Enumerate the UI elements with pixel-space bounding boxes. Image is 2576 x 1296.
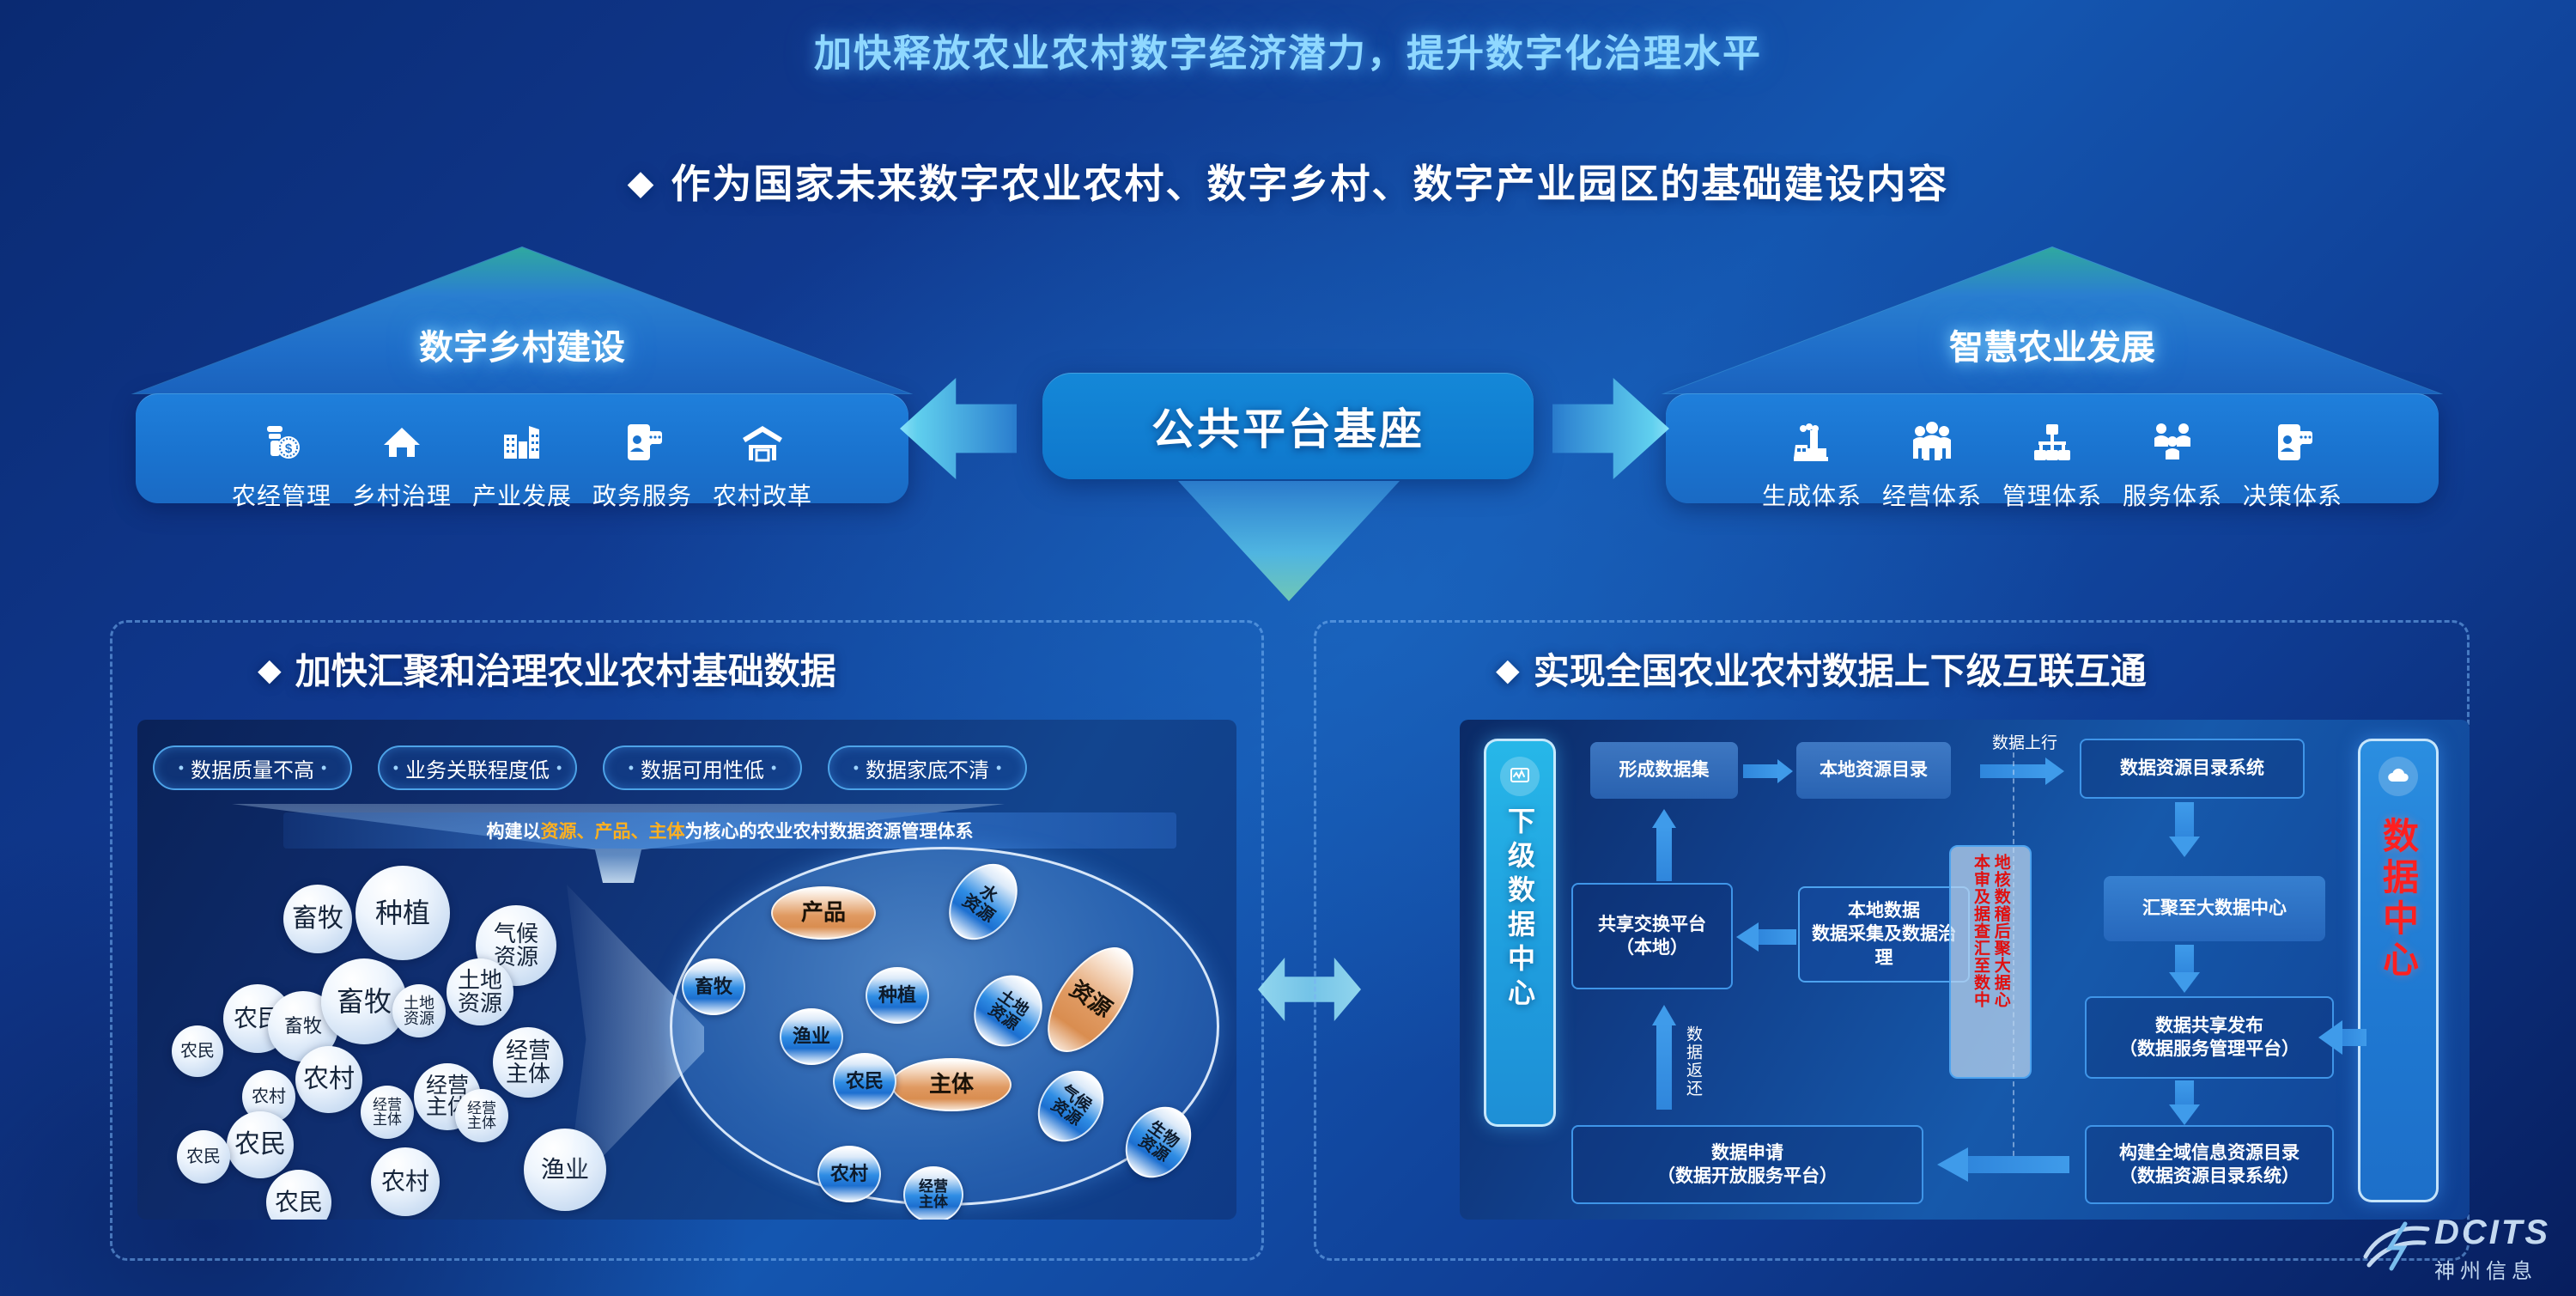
right-item-label-0: 生成体系 <box>1752 478 1872 512</box>
arrow-head-icon <box>2169 837 2200 857</box>
money-coin-icon: $ <box>222 416 342 469</box>
bottom-right-canvas: 下级数据中心 数据中心 形成数据集 本地资源目录 数据上行 数据资源目录系统 <box>1460 720 2470 1220</box>
diamond-bullet-icon: ◆ <box>258 652 282 687</box>
catalog-system-box[interactable]: 数据资源目录系统 <box>2080 739 2305 799</box>
arrow-head-icon <box>1652 809 1676 828</box>
left-house-panel: 数字乡村建设 $ 农经管理 乡村治理 <box>136 247 908 503</box>
public-platform-base-pill[interactable]: 公共平台基座 <box>1042 373 1534 479</box>
data-center-tab[interactable]: 数据中心 <box>2358 739 2439 1202</box>
data-bubble: 经营主体 <box>455 1089 508 1142</box>
issue-pill-label-3: 数据家底不清 <box>866 753 989 783</box>
arrow-dc-to-publish <box>2341 1029 2366 1046</box>
arrow-to-left-panel <box>900 378 1017 479</box>
left-item-0[interactable]: $ 农经管理 <box>222 416 342 512</box>
oval-node: 农民 <box>833 1053 896 1110</box>
oval-node: 经营主体 <box>903 1166 963 1220</box>
right-house-roof: 智慧农业发展 <box>1666 247 2439 393</box>
bottom-left-heading: ◆加快汇聚和治理农业农村基础数据 <box>258 642 836 695</box>
aggregate-center-box[interactable]: 汇聚至大数据中心 <box>2104 876 2325 941</box>
sub-title-text: 作为国家未来数字农业农村、数字乡村、数字产业园区的基础建设内容 <box>671 161 1948 206</box>
bottom-right-heading-text: 实现全国农业农村数据上下级互联互通 <box>1534 651 2147 691</box>
issue-pill-label-1: 业务关联程度低 <box>405 753 550 783</box>
buildings-icon <box>462 416 582 469</box>
issue-pill-label-2: 数据可用性低 <box>641 753 764 783</box>
data-bubble: 农民 <box>266 1170 331 1220</box>
left-house-roof: 数字乡村建设 <box>136 247 908 393</box>
bottom-left-canvas: •数据质量不高• •业务关联程度低• •数据可用性低• •数据家底不清• 构建以… <box>137 720 1236 1220</box>
oval-node: 资源 <box>1030 933 1150 1067</box>
right-item-label-3: 服务体系 <box>2112 478 2233 512</box>
oval-node: 主体 <box>891 1058 1012 1111</box>
data-bubble: 农村 <box>371 1147 440 1216</box>
right-house-title: 智慧农业发展 <box>1666 319 2439 369</box>
banner-highlight: 资源、产品、主体 <box>541 818 685 843</box>
mobile-service-icon <box>582 416 702 469</box>
left-item-label-4: 农村改革 <box>702 478 823 512</box>
issue-pill-label-0: 数据质量不高 <box>191 753 314 783</box>
main-title: 加快释放农业农村数字经济潜力，提升数字化治理水平 <box>0 22 2576 77</box>
arrow-catalog-to-aggregate <box>2175 802 2194 840</box>
form-dataset-box[interactable]: 形成数据集 <box>1590 742 1738 799</box>
arrow-head-icon <box>2169 972 2200 993</box>
left-item-label-1: 乡村治理 <box>342 478 462 512</box>
right-item-label-2: 管理体系 <box>1992 478 2112 512</box>
mobile-service-icon <box>2233 416 2353 469</box>
people-service-icon <box>2112 416 2233 469</box>
data-return-label: 数据返还 <box>1681 1025 1704 1098</box>
local-data-label-2: 数据采集及数据治理 <box>1807 922 1961 970</box>
data-bubble: 土地资源 <box>392 984 446 1037</box>
diamond-bullet-icon: ◆ <box>628 164 656 202</box>
arrow-down-to-bottom <box>1178 481 1400 601</box>
left-item-label-0: 农经管理 <box>222 478 342 512</box>
data-bubble: 农村 <box>295 1046 362 1113</box>
left-item-3[interactable]: 政务服务 <box>582 416 702 512</box>
right-item-3[interactable]: 服务体系 <box>2112 416 2233 512</box>
arrow-head-icon <box>1652 1005 1676 1025</box>
catalog-system-label: 数据资源目录系统 <box>2120 757 2264 780</box>
right-item-label-4: 决策体系 <box>2233 478 2353 512</box>
audit-note-col-2: 本审及据查汇至数中 <box>1970 854 1990 1077</box>
bullet-dot-icon: • <box>854 759 859 777</box>
house-reform-icon <box>702 416 823 469</box>
data-bubble: 种植 <box>355 866 450 960</box>
banner-prefix: 构建以 <box>487 818 541 843</box>
share-publish-label-1: 数据共享发布 <box>2155 1014 2263 1037</box>
oval-node: 气候资源 <box>1024 1058 1117 1154</box>
oval-node: 种植 <box>866 967 929 1024</box>
diamond-bullet-icon: ◆ <box>1496 652 1520 687</box>
local-catalog-label: 本地资源目录 <box>1820 758 1928 782</box>
arrow-share-to-dataset <box>1656 826 1672 881</box>
left-item-4[interactable]: 农村改革 <box>702 416 823 512</box>
issue-pill-1[interactable]: •业务关联程度低• <box>378 745 577 790</box>
oval-node: 畜牧 <box>682 958 745 1015</box>
data-upload-label: 数据上行 <box>1992 730 2057 753</box>
svg-text:$: $ <box>285 441 293 456</box>
left-item-2[interactable]: 产业发展 <box>462 416 582 512</box>
cloud-icon <box>2379 757 2418 796</box>
local-data-label-1: 本地数据 <box>1848 899 1920 922</box>
monitor-chart-icon <box>1500 757 1540 796</box>
issue-pill-0[interactable]: •数据质量不高• <box>153 745 352 790</box>
local-data-box[interactable]: 本地数据 数据采集及数据治理 <box>1798 886 1970 983</box>
lower-level-data-center-tab[interactable]: 下级数据中心 <box>1484 739 1556 1127</box>
arrow-dataset-to-catalog <box>1743 764 1779 778</box>
bullet-dot-icon: • <box>556 759 562 777</box>
arrow-localdata-to-share <box>1759 929 1796 945</box>
arrow-head-icon <box>1777 759 1793 783</box>
logo-mark-icon <box>2360 1219 2434 1278</box>
data-apply-box[interactable]: 数据申请 （数据开放服务平台） <box>1571 1125 1923 1204</box>
issue-pill-3[interactable]: •数据家底不清• <box>828 745 1027 790</box>
bullet-dot-icon: • <box>629 759 634 777</box>
oval-node: 水资源 <box>935 851 1031 953</box>
right-house-body: 生成体系 经营体系 <box>1666 393 2439 503</box>
share-platform-label-1: 共享交换平台 <box>1598 913 1706 936</box>
infographic-stage: 加快释放农业农村数字经济潜力，提升数字化治理水平 ◆作为国家未来数字农业农村、数… <box>0 0 2576 1296</box>
messy-data-bubble-cluster: 农民农民畜牧畜牧种植畜牧土地资源气候资源土地资源经营主体农村农村农民农民农民经营… <box>156 864 611 1208</box>
logo-en-text: DCITS <box>2434 1214 2550 1252</box>
core-system-banner: 构建以资源、产品、主体为核心的农业农村数据资源管理体系 <box>283 812 1176 849</box>
data-bubble: 农民 <box>227 1111 294 1178</box>
share-platform-box[interactable]: 共享交换平台 （本地） <box>1571 883 1733 989</box>
bullet-dot-icon: • <box>771 759 776 777</box>
data-bubble: 经营主体 <box>361 1086 414 1139</box>
issue-pill-2[interactable]: •数据可用性低• <box>603 745 802 790</box>
right-item-4[interactable]: 决策体系 <box>2233 416 2353 512</box>
oval-node: 渔业 <box>780 1008 843 1065</box>
left-house-title: 数字乡村建设 <box>136 319 908 369</box>
logo-cn-text: 神州信息 <box>2434 1254 2550 1284</box>
data-bubble: 农民 <box>172 1025 223 1077</box>
lower-level-data-center-label: 下级数据中心 <box>1500 806 1540 1013</box>
share-platform-label-2: （本地） <box>1616 936 1688 959</box>
local-catalog-box[interactable]: 本地资源目录 <box>1796 742 1951 799</box>
arrow-head-icon <box>1937 1147 1968 1182</box>
right-item-label-1: 经营体系 <box>1872 478 1992 512</box>
company-logo: DCITS 神州信息 <box>2434 1214 2550 1284</box>
bottom-left-heading-text: 加快汇聚和治理农业农村基础数据 <box>295 651 836 691</box>
arrow-aggregate-to-publish <box>2175 945 2194 976</box>
form-dataset-label: 形成数据集 <box>1619 758 1710 782</box>
left-item-1[interactable]: 乡村治理 <box>342 416 462 512</box>
oval-node: 产品 <box>771 886 876 940</box>
build-catalog-label-1: 构建全域信息资源目录 <box>2119 1141 2300 1165</box>
bullet-dot-icon: • <box>393 759 398 777</box>
arrow-head-icon <box>2169 1104 2200 1125</box>
data-bubble: 经营主体 <box>493 1027 563 1098</box>
banner-suffix: 为核心的农业农村数据资源管理体系 <box>685 818 974 843</box>
right-item-2[interactable]: 管理体系 <box>1992 416 2112 512</box>
org-tree-icon <box>1992 416 2112 469</box>
data-apply-label-2: （数据开放服务平台） <box>1657 1165 1838 1188</box>
data-center-label: 数据中心 <box>2372 817 2425 982</box>
data-apply-label-1: 数据申请 <box>1711 1141 1783 1165</box>
people-group-icon <box>1872 416 1992 469</box>
aggregate-center-label: 汇聚至大数据中心 <box>2142 897 2287 920</box>
core-data-oval-diagram: 产品主体资源畜牧种植渔业农民农村经营主体水资源土地资源气候资源生物资源 <box>670 847 1219 1206</box>
bullet-dot-icon: • <box>321 759 326 777</box>
factory-icon <box>1752 416 1872 469</box>
arrow-to-right-panel <box>1552 378 1669 479</box>
arrow-head-icon <box>2318 1020 2342 1055</box>
right-house-panel: 智慧农业发展 生成体系 <box>1666 247 2439 503</box>
left-item-label-3: 政务服务 <box>582 478 702 512</box>
build-catalog-box[interactable]: 构建全域信息资源目录 （数据资源目录系统） <box>2085 1125 2334 1204</box>
right-item-0[interactable]: 生成体系 <box>1752 416 1872 512</box>
right-item-1[interactable]: 经营体系 <box>1872 416 1992 512</box>
arrow-build-to-apply <box>1966 1156 2069 1173</box>
center-pill-label: 公共平台基座 <box>1151 395 1425 457</box>
data-bubble: 畜牧 <box>283 885 352 953</box>
bullet-dot-icon: • <box>996 759 1001 777</box>
bullet-dot-icon: • <box>179 759 184 777</box>
data-bubble: 土地资源 <box>447 958 513 1025</box>
left-house-body: $ 农经管理 乡村治理 产业发展 <box>136 393 908 503</box>
oval-node: 土地资源 <box>960 962 1056 1060</box>
left-item-label-2: 产业发展 <box>462 478 582 512</box>
audit-note-box: 本审及据查汇至数中 地核数稽后聚大据心 <box>1949 845 2032 1079</box>
build-catalog-label-2: （数据资源目录系统） <box>2119 1165 2300 1188</box>
bottom-right-heading: ◆实现全国农业农村数据上下级互联互通 <box>1496 642 2147 695</box>
share-publish-box[interactable]: 数据共享发布 （数据服务管理平台） <box>2085 996 2334 1079</box>
oval-node: 农村 <box>817 1146 881 1202</box>
arrow-data-return <box>1656 1024 1672 1110</box>
arrow-head-icon <box>2045 758 2064 785</box>
share-publish-label-2: （数据服务管理平台） <box>2119 1037 2300 1061</box>
sub-title-row: ◆作为国家未来数字农业农村、数字乡村、数字产业园区的基础建设内容 <box>0 153 2576 210</box>
arrow-head-icon <box>1736 922 1759 952</box>
home-icon <box>342 416 462 469</box>
audit-note-col-1: 地核数稽后聚大据心 <box>1990 854 2011 1077</box>
oval-node: 生物资源 <box>1112 1094 1205 1190</box>
data-bubble: 农民 <box>177 1130 230 1183</box>
